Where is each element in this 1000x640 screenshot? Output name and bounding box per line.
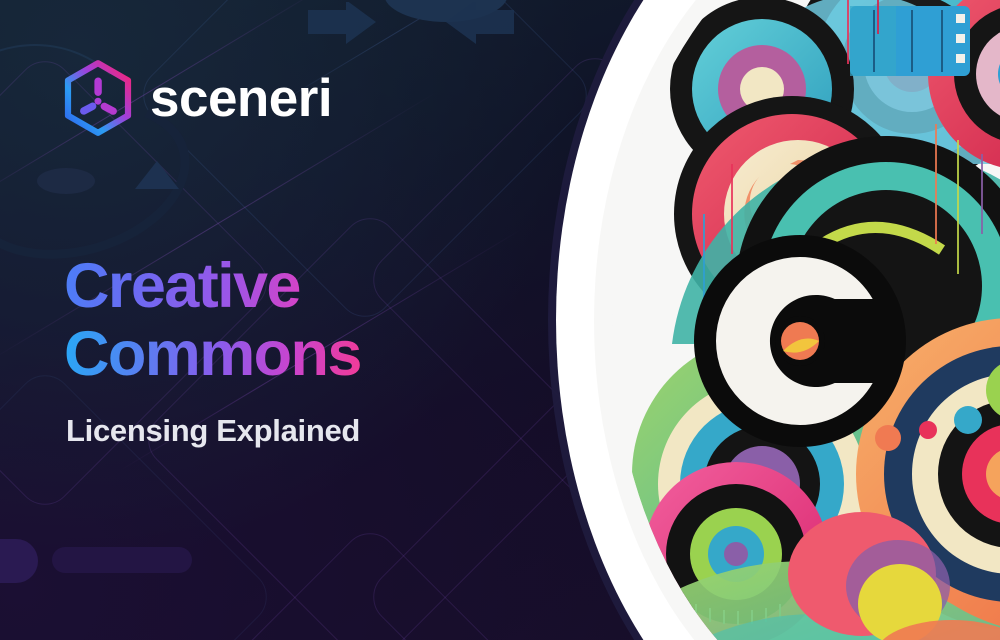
creative-commons-c-icon bbox=[694, 235, 906, 447]
brand-wordmark: sceneri bbox=[150, 72, 332, 125]
sceneri-hexagon-logo-icon bbox=[62, 60, 134, 136]
blob-ellipse-shape bbox=[37, 168, 95, 194]
pill-bar-shape bbox=[52, 547, 192, 573]
page-title: Creative Commons bbox=[64, 252, 361, 388]
headline-line-1: Creative bbox=[64, 252, 361, 320]
rotate-arrow-head-icon bbox=[135, 161, 179, 189]
page-subtitle: Licensing Explained bbox=[66, 413, 360, 449]
brand-logo[interactable]: sceneri bbox=[62, 60, 332, 136]
headline-line-2: Commons bbox=[64, 320, 361, 388]
merge-arrows-icon bbox=[306, 2, 516, 52]
banner-root: sceneri Creative Commons Licensing Expla… bbox=[0, 0, 1000, 640]
